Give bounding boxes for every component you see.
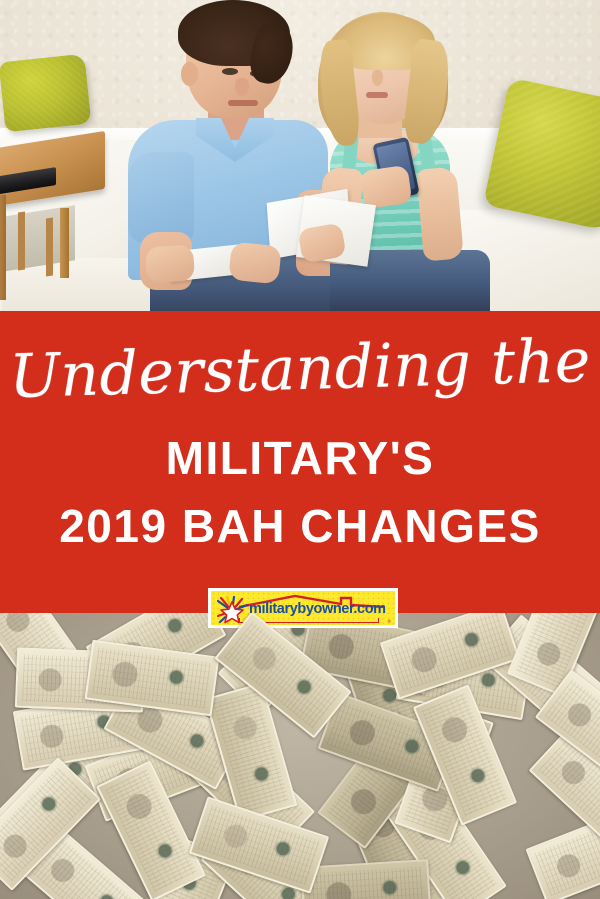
- man-mouth: [228, 100, 258, 106]
- man-nose: [235, 78, 249, 96]
- woman-mouth: [366, 92, 388, 98]
- man-eye-left: [222, 68, 238, 75]
- militarybyowner-logo[interactable]: militarybyowner.com ®: [208, 588, 398, 628]
- side-table-leg-1: [0, 195, 6, 300]
- title-bold-line-2: 2019 BAH CHANGES: [0, 503, 600, 549]
- woman-nose: [372, 70, 383, 86]
- banner-text-stack: Understanding the MILITARY'S 2019 BAH CH…: [0, 339, 600, 549]
- registered-trademark-symbol: ®: [388, 619, 391, 624]
- red-title-banner: Understanding the MILITARY'S 2019 BAH CH…: [0, 311, 600, 613]
- man-sleeve: [128, 152, 194, 244]
- man-hand-right: [228, 241, 282, 284]
- logo-yellow-plate: militarybyowner.com ®: [211, 591, 395, 625]
- title-script-line: Understanding the: [0, 331, 600, 408]
- couple-reviewing-bills-photo: [0, 0, 600, 311]
- title-bold-line-1: MILITARY'S: [0, 435, 600, 481]
- man-ear: [181, 62, 198, 86]
- side-table-slat-2: [46, 217, 53, 276]
- logo-wordmark: militarybyowner.com: [249, 601, 386, 617]
- man-hand-left: [145, 244, 195, 283]
- pinterest-pin-graphic: Understanding the MILITARY'S 2019 BAH CH…: [0, 0, 600, 899]
- woman-right-arm: [416, 166, 464, 261]
- five-dollar-bill: [300, 859, 431, 899]
- woman-hand-holding-phone: [360, 165, 413, 209]
- side-table-slat-1: [18, 211, 25, 270]
- five-dollar-bills-photo: [0, 613, 600, 899]
- side-table-leg-2: [60, 208, 69, 278]
- throw-pillow-left: [0, 54, 91, 133]
